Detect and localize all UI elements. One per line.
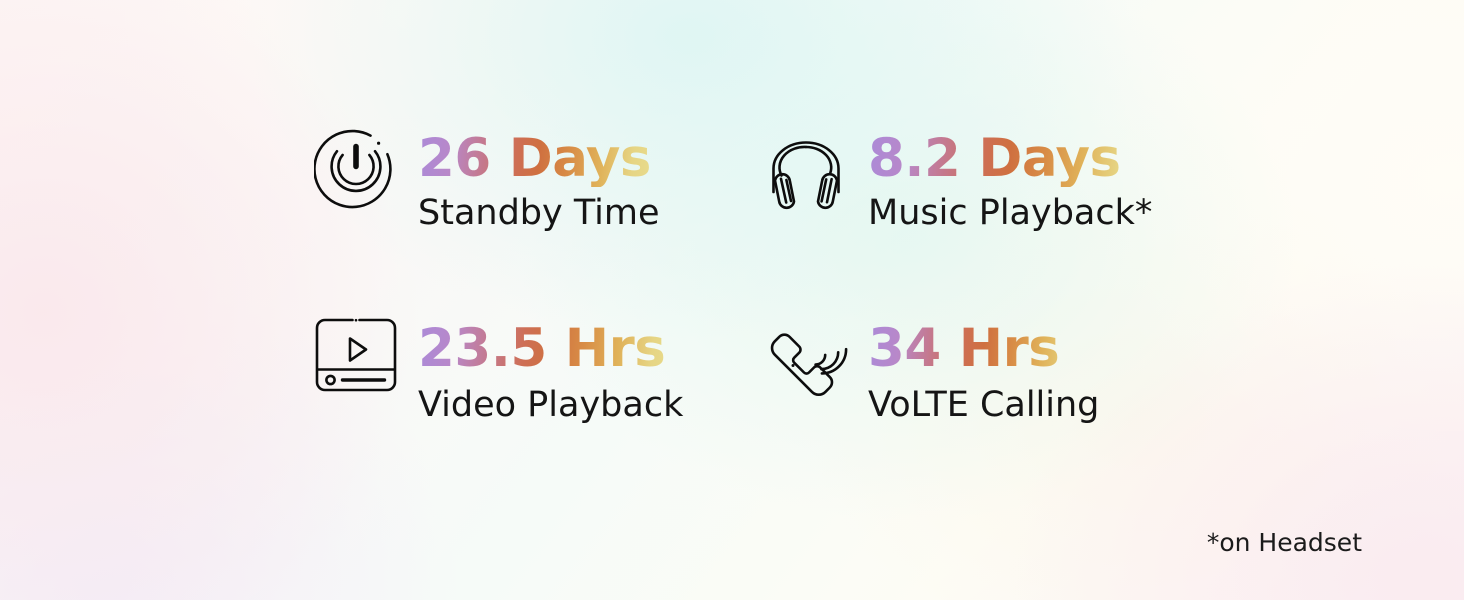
stat-value-volte-calling: 34 Hrs <box>868 320 1099 377</box>
feature-item-volte-calling: 34 Hrs VoLTE Calling <box>760 318 1210 468</box>
feature-text-video-playback: 23.5 Hrs Video Playback <box>418 318 683 427</box>
feature-item-music-playback: 8.2 Days Music Playback* <box>760 128 1210 318</box>
video-player-icon <box>310 318 402 392</box>
feature-item-standby-time: 26 Days Standby Time <box>310 128 760 318</box>
stat-label-music-playback: Music Playback* <box>868 193 1152 234</box>
headphones-icon <box>760 128 852 216</box>
phone-call-signal-icon <box>760 318 852 404</box>
feature-text-volte-calling: 34 Hrs VoLTE Calling <box>868 318 1099 427</box>
stat-label-standby-time: Standby Time <box>418 193 660 234</box>
stat-value-music-playback: 8.2 Days <box>868 130 1152 187</box>
feature-text-music-playback: 8.2 Days Music Playback* <box>868 128 1152 235</box>
stat-label-video-playback: Video Playback <box>418 385 683 426</box>
stat-label-volte-calling: VoLTE Calling <box>868 385 1099 426</box>
stat-value-standby-time: 26 Days <box>418 130 660 187</box>
power-button-icon <box>310 128 402 212</box>
footnote-on-headset: *on Headset <box>1207 528 1362 557</box>
stat-value-video-playback: 23.5 Hrs <box>418 320 683 377</box>
battery-life-feature-grid: 26 Days Standby Time <box>310 128 1210 468</box>
feature-item-video-playback: 23.5 Hrs Video Playback <box>310 318 760 468</box>
feature-text-standby-time: 26 Days Standby Time <box>418 128 660 235</box>
